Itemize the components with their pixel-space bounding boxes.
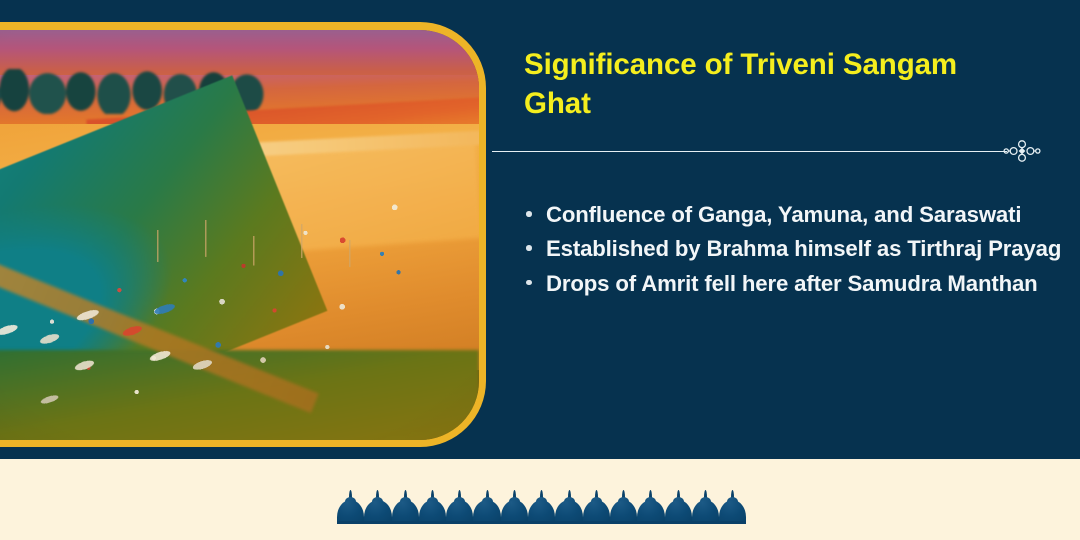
photo-card: [0, 22, 486, 447]
quatrefoil-knot-ornament: [1000, 140, 1044, 162]
dome-base: [364, 521, 391, 524]
list-item: Established by Brahma himself as Tirthra…: [506, 232, 1066, 265]
temple-dome-icon: [473, 490, 500, 524]
temple-dome-icon: [501, 490, 528, 524]
temple-dome-icon: [528, 490, 555, 524]
bullet-list: Confluence of Ganga, Yamuna, and Saraswa…: [506, 198, 1066, 301]
temple-dome-icon: [583, 490, 610, 524]
dome-base: [392, 521, 419, 524]
dome-base: [419, 521, 446, 524]
temple-dome-frieze: [337, 488, 747, 524]
title-divider: [492, 140, 1052, 162]
temple-dome-icon: [364, 490, 391, 524]
dome-base: [637, 521, 664, 524]
dome-base: [446, 521, 473, 524]
temple-dome-icon: [446, 490, 473, 524]
dome-base: [719, 521, 746, 524]
dome-base: [528, 521, 555, 524]
temple-dome-icon: [692, 490, 719, 524]
slide-root: Significance of Triveni Sangam Ghat Con: [0, 0, 1080, 540]
dome-base: [583, 521, 610, 524]
divider-rule: [492, 151, 1007, 153]
dome-base: [337, 521, 364, 524]
temple-dome-icon: [419, 490, 446, 524]
dome-base: [501, 521, 528, 524]
slide-title: Significance of Triveni Sangam Ghat: [524, 45, 994, 123]
dome-base: [610, 521, 637, 524]
dome-base: [473, 521, 500, 524]
photo-vignette: [0, 30, 479, 440]
temple-dome-icon: [555, 490, 582, 524]
dome-base: [692, 521, 719, 524]
temple-dome-icon: [665, 490, 692, 524]
temple-dome-icon: [337, 490, 364, 524]
dome-base: [665, 521, 692, 524]
temple-dome-icon: [637, 490, 664, 524]
list-item: Confluence of Ganga, Yamuna, and Saraswa…: [506, 198, 1066, 231]
temple-dome-icon: [719, 490, 746, 524]
temple-dome-icon: [392, 490, 419, 524]
content-column: Significance of Triveni Sangam Ghat Con: [492, 0, 1080, 459]
temple-dome-icon: [610, 490, 637, 524]
riverbank-photo: [0, 30, 479, 440]
dome-base: [555, 521, 582, 524]
list-item: Drops of Amrit fell here after Samudra M…: [506, 267, 1066, 300]
